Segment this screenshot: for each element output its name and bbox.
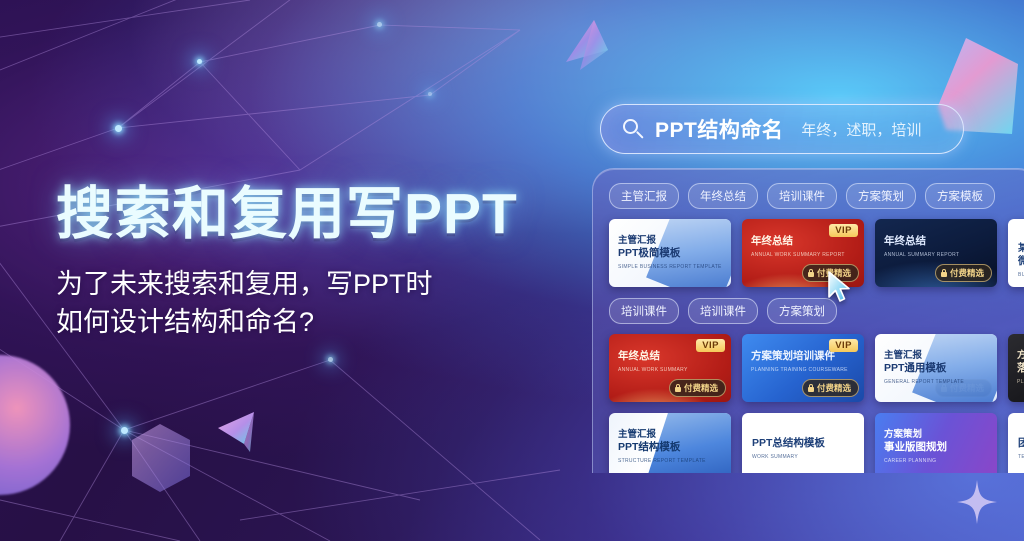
template-card[interactable]: 主管汇报PPT通用模板GENERAL REPORT TEMPLATE付费精选	[875, 334, 997, 402]
promo-banner: 搜索和复用写PPT 为了未来搜索和复用，写PPT时 如何设计结构和命名? PPT…	[0, 0, 1024, 541]
tag-chip[interactable]: 培训课件	[767, 183, 837, 209]
template-card[interactable]: 主管汇报PPT结构模板STRUCTURE REPORT TEMPLATE	[609, 413, 731, 473]
card-title: 某某总结微带按路与策略BUSINESS REPORT	[1018, 243, 1024, 278]
template-card[interactable]: 方案策划培训课件PLANNING TRAINING COURSEWAREVIP付…	[742, 334, 864, 402]
card-title: 年终总结ANNUAL WORK SUMMARY REPORT	[751, 235, 845, 258]
gradient-triangle-icon	[198, 400, 278, 480]
search-bar-wrapper: PPT结构命名 年终，述职，培训	[600, 104, 964, 154]
paid-badge-label: 付费精选	[817, 382, 851, 394]
card-title: 方案策划落势防范图PLANNING SCHEME	[1017, 350, 1024, 385]
page-title: 搜索和复用写PPT	[56, 186, 576, 243]
hero-subtitle: 为了未来搜索和复用，写PPT时 如何设计结构和命名?	[56, 265, 576, 342]
tag-chip[interactable]: 培训课件	[688, 298, 758, 324]
card-row: 主管汇报PPT结构模板STRUCTURE REPORT TEMPLATEPPT总…	[609, 413, 1024, 473]
tag-row: 培训课件培训课件方案策划	[609, 298, 1024, 324]
card-title-line-1: 主管汇报	[618, 429, 706, 441]
lock-icon	[808, 269, 814, 277]
card-title-line-2: 落势防范图	[1017, 362, 1024, 375]
tag-row: 主管汇报年终总结培训课件方案策划方案模板	[609, 183, 1024, 209]
gradient-cube-icon	[120, 418, 210, 518]
gradient-triangle-icon	[532, 8, 642, 100]
card-title-line-2: PPT极简模板	[618, 247, 722, 260]
lock-icon	[808, 384, 814, 392]
glow-node	[428, 92, 432, 96]
vip-badge: VIP	[829, 224, 858, 237]
hero-subtitle-line-2: 如何设计结构和命名?	[56, 303, 576, 341]
template-card[interactable]: PPT总结构模板WORK SUMMARY	[742, 413, 864, 473]
template-card[interactable]: 方案策划落势防范图PLANNING SCHEME	[1008, 334, 1024, 402]
card-title-line-1: 方案策划	[1017, 350, 1024, 362]
search-input[interactable]: PPT结构命名 年终，述职，培训	[600, 104, 964, 154]
card-title-line-2: PPT总结构模板	[752, 437, 825, 450]
card-title-line-2: 微带按路与策略	[1018, 255, 1024, 268]
search-icon	[623, 119, 643, 139]
card-title: 主管汇报PPT极简模板SIMPLE BUSINESS REPORT TEMPLA…	[618, 235, 722, 270]
paid-badge: 付费精选	[669, 379, 726, 397]
card-title-line-1: 某某总结	[1018, 243, 1024, 255]
card-title: 团队介绍与成员展示TEAM INTRODUCTION	[1018, 437, 1024, 460]
glow-node	[377, 22, 382, 27]
lock-icon	[941, 269, 947, 277]
card-subtitle: ANNUAL WORK SUMMARY	[618, 367, 688, 373]
card-subtitle: PLANNING SCHEME	[1017, 379, 1024, 385]
card-title-line-1: 主管汇报	[618, 235, 722, 247]
card-subtitle: CAREER PLANNING	[884, 458, 947, 464]
card-title-line-2: PPT通用模板	[884, 362, 964, 375]
card-title: 年终总结ANNUAL SUMMARY REPORT	[884, 235, 959, 258]
card-title-line-1: 主管汇报	[884, 350, 964, 362]
template-card[interactable]: 年终总结ANNUAL WORK SUMMARYVIP付费精选	[609, 334, 731, 402]
card-title: PPT总结构模板WORK SUMMARY	[752, 437, 825, 460]
card-title: 主管汇报PPT通用模板GENERAL REPORT TEMPLATE	[884, 350, 964, 385]
tag-chip[interactable]: 培训课件	[609, 298, 679, 324]
template-card[interactable]: 年终总结ANNUAL SUMMARY REPORT付费精选	[875, 219, 997, 287]
tag-chip[interactable]: 年终总结	[688, 183, 758, 209]
card-subtitle: ANNUAL SUMMARY REPORT	[884, 252, 959, 258]
card-subtitle: ANNUAL WORK SUMMARY REPORT	[751, 252, 845, 258]
card-title: 方案策划事业版图规划CAREER PLANNING	[884, 429, 947, 464]
search-hint-text: 年终，述职，培训	[801, 119, 921, 140]
glow-node	[121, 427, 128, 434]
template-card[interactable]: 某某总结微带按路与策略BUSINESS REPORT	[1008, 219, 1024, 287]
paid-badge: 付费精选	[802, 379, 859, 397]
card-title-line-2: 事业版图规划	[884, 441, 947, 454]
mouse-cursor-icon	[826, 270, 852, 304]
sparkle-star-icon	[955, 478, 999, 526]
card-subtitle: PLANNING TRAINING COURSEWARE	[751, 367, 848, 373]
card-title-line-2: 年终总结	[618, 350, 688, 363]
hero-subtitle-line-1: 为了未来搜索和复用，写PPT时	[56, 265, 576, 303]
glow-node	[115, 125, 122, 132]
card-title: 主管汇报PPT结构模板STRUCTURE REPORT TEMPLATE	[618, 429, 706, 464]
card-subtitle: GENERAL REPORT TEMPLATE	[884, 379, 964, 385]
card-subtitle: WORK SUMMARY	[752, 454, 825, 460]
template-card[interactable]: 团队介绍与成员展示TEAM INTRODUCTION	[1008, 413, 1024, 473]
card-title-line-1: 方案策划	[884, 429, 947, 441]
vip-badge: VIP	[696, 339, 725, 352]
tag-chip[interactable]: 方案模板	[925, 183, 995, 209]
card-title: 年终总结ANNUAL WORK SUMMARY	[618, 350, 688, 373]
card-title-line-2: 团队介绍与成员展示	[1018, 437, 1024, 450]
card-row: 主管汇报PPT极简模板SIMPLE BUSINESS REPORT TEMPLA…	[609, 219, 1024, 287]
card-subtitle: SIMPLE BUSINESS REPORT TEMPLATE	[618, 264, 722, 270]
template-card[interactable]: 方案策划事业版图规划CAREER PLANNING	[875, 413, 997, 473]
template-card[interactable]: 主管汇报PPT极简模板SIMPLE BUSINESS REPORT TEMPLA…	[609, 219, 731, 287]
results-panel: 主管汇报年终总结培训课件方案策划方案模板主管汇报PPT极简模板SIMPLE BU…	[592, 168, 1024, 473]
paid-badge-label: 付费精选	[684, 382, 718, 394]
gradient-orb	[0, 355, 70, 495]
card-subtitle: STRUCTURE REPORT TEMPLATE	[618, 458, 706, 464]
card-subtitle: BUSINESS REPORT	[1018, 272, 1024, 278]
search-query-text: PPT结构命名	[655, 114, 783, 144]
vip-badge: VIP	[829, 339, 858, 352]
card-title-line-2: PPT结构模板	[618, 441, 706, 454]
paid-badge: 付费精选	[935, 264, 992, 282]
hero-copy: 搜索和复用写PPT 为了未来搜索和复用，写PPT时 如何设计结构和命名?	[56, 186, 576, 342]
card-title-line-2: 年终总结	[884, 235, 959, 248]
glow-node	[328, 357, 333, 362]
tag-chip[interactable]: 方案策划	[846, 183, 916, 209]
card-subtitle: TEAM INTRODUCTION	[1018, 454, 1024, 460]
paid-badge-label: 付费精选	[950, 267, 984, 279]
glow-node	[197, 59, 202, 64]
tag-chip[interactable]: 主管汇报	[609, 183, 679, 209]
card-row: 年终总结ANNUAL WORK SUMMARYVIP付费精选方案策划培训课件PL…	[609, 334, 1024, 402]
lock-icon	[675, 384, 681, 392]
card-title: 方案策划培训课件PLANNING TRAINING COURSEWARE	[751, 350, 848, 373]
